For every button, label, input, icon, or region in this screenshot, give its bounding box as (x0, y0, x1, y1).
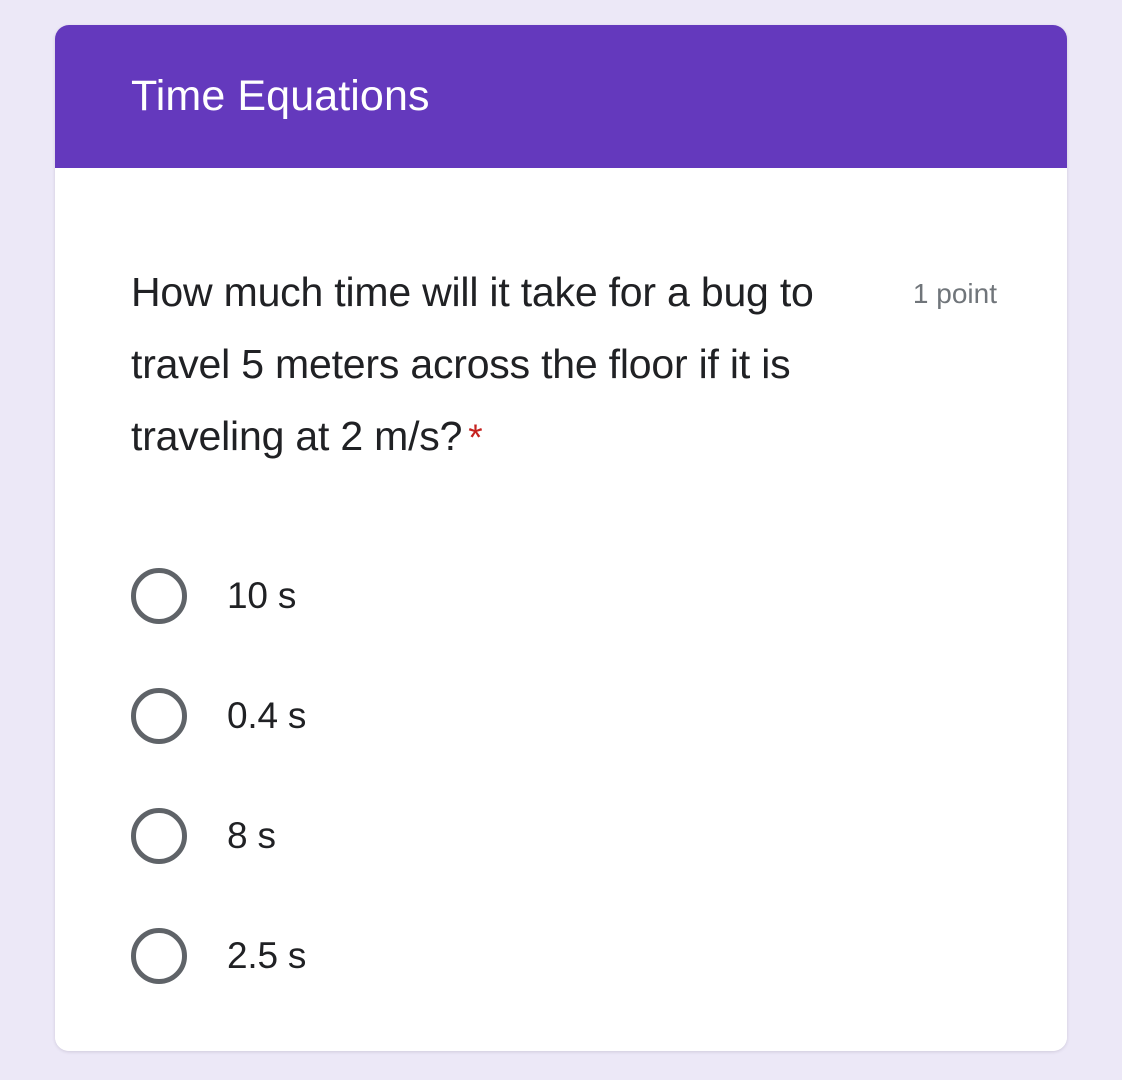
option-label-0[interactable]: 10 s (227, 574, 296, 618)
question-text-wrapper: How much time will it take for a bug to … (131, 256, 831, 474)
option-label-2[interactable]: 8 s (227, 814, 276, 858)
required-asterisk: * (468, 417, 482, 458)
form-header-banner: Time Equations (55, 25, 1067, 168)
question-block: How much time will it take for a bug to … (131, 256, 1001, 474)
quiz-page: Time Equations How much time will it tak… (0, 0, 1122, 1080)
option-label-1[interactable]: 0.4 s (227, 694, 306, 738)
radio-button-icon-3[interactable] (131, 928, 187, 984)
question-row: How much time will it take for a bug to … (131, 256, 1001, 474)
points-label: 1 point (913, 256, 1001, 330)
option-label-3[interactable]: 2.5 s (227, 934, 306, 978)
form-title: Time Equations (131, 70, 430, 122)
question-card-body: How much time will it take for a bug to … (55, 168, 1067, 1051)
option-row-0[interactable]: 10 s (131, 536, 931, 656)
question-card: Time Equations How much time will it tak… (55, 25, 1067, 1051)
option-row-2[interactable]: 8 s (131, 776, 931, 896)
option-row-3[interactable]: 2.5 s (131, 896, 931, 1016)
radio-button-icon-2[interactable] (131, 808, 187, 864)
option-row-1[interactable]: 0.4 s (131, 656, 931, 776)
answer-options-list: 10 s 0.4 s 8 s 2.5 s (131, 536, 931, 1016)
radio-button-icon-1[interactable] (131, 688, 187, 744)
radio-button-icon-0[interactable] (131, 568, 187, 624)
